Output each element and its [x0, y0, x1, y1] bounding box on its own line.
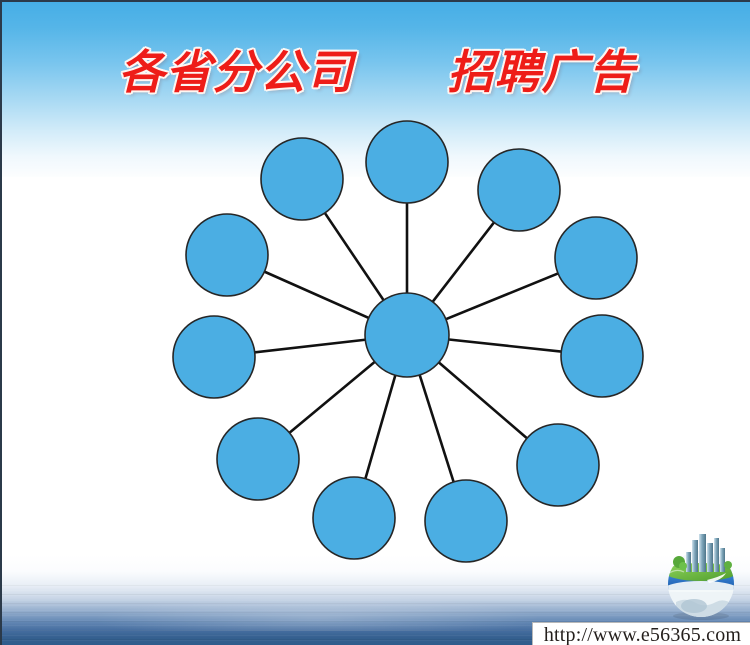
tree-left-small: [679, 562, 687, 570]
spoke-line-7: [365, 374, 395, 479]
building-left-short: [686, 552, 691, 572]
hub-and-spoke-diagram: [2, 2, 750, 645]
branch-node-4[interactable]: [561, 315, 643, 397]
branch-node-7[interactable]: [313, 477, 395, 559]
spoke-line-8: [289, 361, 376, 433]
spoke-line-6: [419, 374, 454, 483]
branch-node-6[interactable]: [425, 480, 507, 562]
spoke-line-10: [264, 271, 370, 318]
building-tallest: [699, 534, 706, 572]
branch-node-9[interactable]: [173, 316, 255, 398]
spoke-line-9: [254, 340, 367, 353]
watermark-url-box: http://www.e56365.com: [532, 622, 750, 645]
spoke-line-11: [324, 212, 384, 301]
node-circles-group: [173, 121, 643, 562]
building-right-short: [720, 548, 725, 572]
branch-node-5[interactable]: [517, 424, 599, 506]
building-right-tall: [714, 538, 719, 572]
spoke-line-3: [445, 273, 559, 319]
globe-continent-australia: [681, 599, 707, 613]
building-tall-left: [692, 540, 698, 572]
branch-node-2[interactable]: [478, 149, 560, 231]
branch-node-1[interactable]: [366, 121, 448, 203]
hub-node[interactable]: [365, 293, 449, 377]
tree-right: [724, 561, 732, 569]
watermark-url-text: http://www.e56365.com: [544, 624, 741, 645]
globe-city-logo: [654, 526, 748, 620]
branch-node-10[interactable]: [186, 214, 268, 296]
spoke-line-2: [432, 222, 494, 303]
spoke-line-5: [438, 362, 528, 439]
branch-node-3[interactable]: [555, 217, 637, 299]
building-mid: [707, 543, 713, 572]
branch-node-8[interactable]: [217, 418, 299, 500]
city-skyline: [673, 534, 732, 572]
slide-canvas: 各省分公司 招聘广告: [0, 0, 750, 645]
spoke-line-4: [448, 339, 562, 351]
branch-node-11[interactable]: [261, 138, 343, 220]
